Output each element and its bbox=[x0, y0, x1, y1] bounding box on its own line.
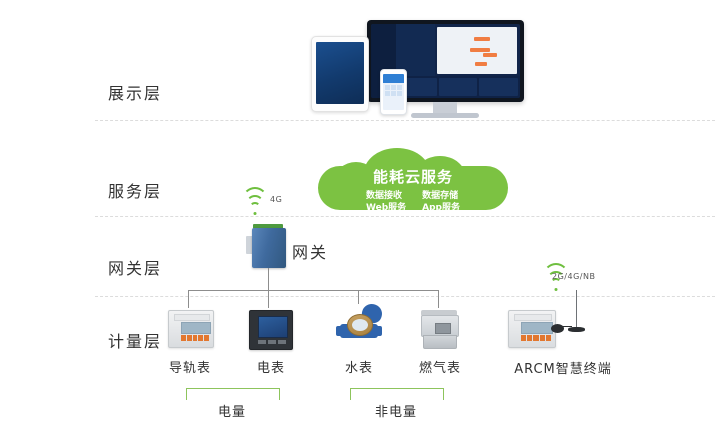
cloud-feature-web-service: Web服务 bbox=[366, 202, 406, 214]
phone-app-icon bbox=[397, 91, 402, 96]
connector-to-electric-meter bbox=[268, 290, 269, 308]
non-electric-group-label: 非电量 bbox=[350, 401, 442, 420]
connector-bus bbox=[188, 290, 438, 291]
gateway-device bbox=[252, 228, 286, 268]
map-marker bbox=[475, 62, 487, 66]
map-marker bbox=[474, 37, 490, 41]
arcm-terminal-label: ARCM智慧终端 bbox=[498, 358, 628, 377]
divider-display-service bbox=[95, 120, 715, 121]
layer-title-service: 服务层 bbox=[108, 178, 198, 202]
water-meter-icon bbox=[336, 304, 382, 344]
dashboard-widget bbox=[439, 78, 478, 96]
phone-app-icon bbox=[385, 85, 390, 90]
cloud-feature-column-right: 数据存储 App服务 bbox=[422, 190, 460, 214]
antenna-rod-icon bbox=[576, 290, 577, 328]
electric-meter-icon bbox=[249, 310, 293, 350]
cloud-feature-data-storage: 数据存储 bbox=[422, 190, 460, 202]
map-marker bbox=[483, 53, 497, 57]
phone-screen bbox=[383, 74, 404, 110]
connector-to-din-rail-meter bbox=[188, 290, 189, 308]
cloud-text-block: 能耗云服务 数据接收 Web服务 数据存储 App服务 bbox=[318, 166, 508, 214]
cloud-feature-column-left: 数据接收 Web服务 bbox=[366, 190, 406, 214]
divider-service-gateway bbox=[95, 216, 715, 217]
gas-meter-icon bbox=[419, 310, 459, 348]
gas-meter-label: 燃气表 bbox=[409, 357, 471, 376]
connector-to-gas-meter bbox=[438, 290, 439, 308]
gateway-label: 网关 bbox=[292, 239, 328, 263]
terminal-network-tag: 2G/4G/NB bbox=[552, 272, 595, 281]
bracket-non-electric-group bbox=[350, 388, 444, 400]
phone-app-icon bbox=[385, 91, 390, 96]
phone-app-grid bbox=[383, 83, 404, 98]
smartphone-device bbox=[380, 69, 407, 115]
monitor-stand-base bbox=[411, 113, 479, 118]
dashboard-map bbox=[437, 27, 517, 74]
water-meter-label: 水表 bbox=[331, 357, 387, 376]
din-rail-meter-icon bbox=[168, 310, 214, 348]
antenna-base-icon bbox=[568, 327, 585, 332]
layer-title-gateway: 网关层 bbox=[108, 255, 198, 279]
dashboard-widget bbox=[479, 78, 518, 96]
gateway-network-tag: 4G bbox=[270, 195, 282, 204]
architecture-diagram: 展示层 服务层 网关层 计量层 bbox=[0, 0, 715, 443]
cloud-feature-app-service: App服务 bbox=[422, 202, 460, 214]
tablet-screen bbox=[316, 42, 364, 104]
cloud-title: 能耗云服务 bbox=[318, 166, 508, 187]
energy-cloud-service: 能耗云服务 数据接收 Web服务 数据存储 App服务 bbox=[318, 148, 508, 210]
phone-header bbox=[383, 74, 404, 83]
dashboard-main bbox=[396, 24, 520, 98]
phone-app-icon bbox=[391, 91, 396, 96]
bracket-electric-group bbox=[186, 388, 280, 400]
cloud-feature-list: 数据接收 Web服务 数据存储 App服务 bbox=[318, 190, 508, 214]
phone-app-icon bbox=[391, 85, 396, 90]
map-marker bbox=[470, 48, 490, 52]
din-rail-meter-label: 导轨表 bbox=[158, 357, 222, 376]
phone-app-icon bbox=[397, 85, 402, 90]
electric-meter-label: 电表 bbox=[243, 357, 299, 376]
dashboard-widgets bbox=[396, 76, 520, 98]
dashboard-top-row bbox=[396, 24, 520, 76]
electric-group-label: 电量 bbox=[186, 401, 278, 420]
wifi-signal-icon bbox=[242, 197, 268, 215]
tablet-device bbox=[311, 36, 369, 112]
cloud-feature-data-receive: 数据接收 bbox=[366, 190, 406, 202]
connector-to-water-meter bbox=[358, 290, 359, 304]
antenna-magnet-icon bbox=[551, 324, 564, 333]
layer-title-display: 展示层 bbox=[108, 80, 198, 104]
arcm-terminal-icon bbox=[508, 310, 556, 348]
connector-gateway-trunk bbox=[268, 268, 269, 290]
